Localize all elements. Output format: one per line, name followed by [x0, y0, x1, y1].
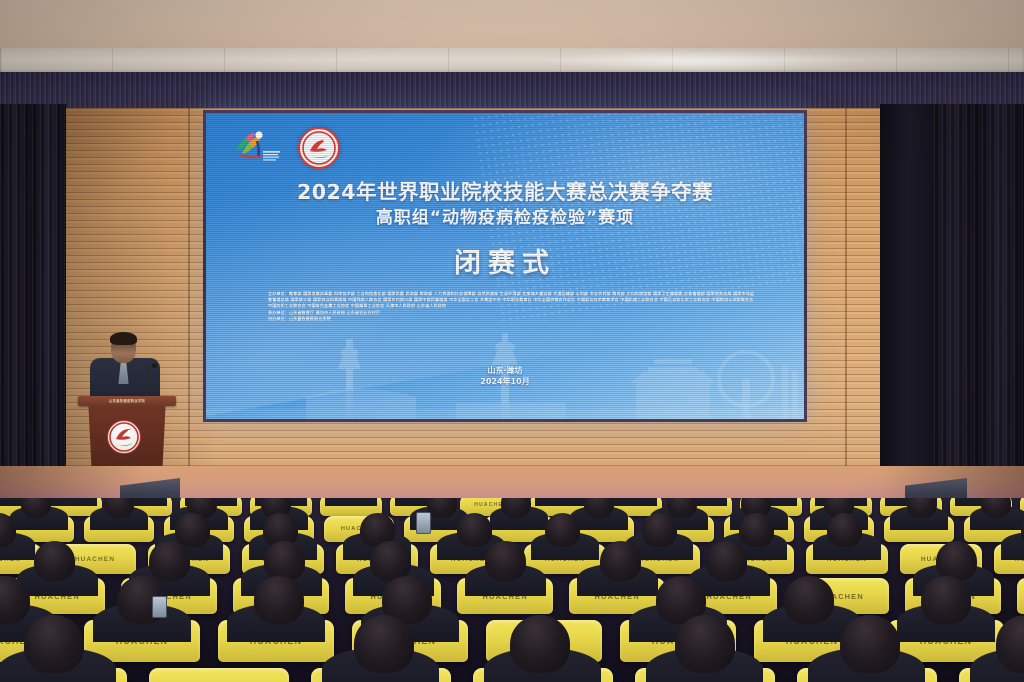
audience-member-shoulders [535, 498, 587, 506]
screen-headline: 2024年世界职业院校技能大赛总决赛争夺赛 [206, 175, 804, 205]
stage-curtain-right [934, 104, 1024, 504]
audience-member-head [600, 541, 641, 581]
audience-member-head [827, 513, 862, 547]
ceiling [0, 0, 1024, 52]
credits-supporters-label: 协办单位： [268, 316, 289, 321]
audience-member-head [642, 513, 677, 547]
credits-co-organizers-text: 山东省教育厅 潍坊市人民政府 山东省农业农村厅 [289, 310, 380, 315]
screen-credits-block: 主办单位：教育部 国家发展改革委 科学技术部 工业和信息化部 国家民委 民政部 … [268, 291, 756, 322]
audience-member-head [34, 541, 75, 581]
audience-member-head [264, 541, 305, 581]
audience-member-head [175, 513, 210, 547]
chair-brand-label: HUACHEN [75, 556, 115, 563]
audience-seating: HUACHENHUACHENHUACHENHUACHENHUACHENHUACH… [0, 498, 1024, 682]
stage-curtain-right-inner [880, 104, 938, 504]
audience-phone [416, 512, 431, 534]
audience-member-head [784, 576, 834, 624]
audience-member-head [739, 513, 774, 547]
audience-member-shoulders [45, 498, 97, 506]
animal-health-roundel-icon [298, 127, 340, 169]
lectern-nameplate: 山东畜牧兽医职业学院 [86, 398, 168, 404]
screen-subhead: 高职组“动物疫病检疫检验”赛项 [206, 203, 804, 228]
institution-roundel-icon [107, 420, 141, 454]
audience-member-head [921, 576, 971, 624]
ceiling-cornice [0, 48, 1024, 74]
credits-supporters-text: 山东畜牧兽医职业学院 [289, 316, 331, 321]
credits-organizers-label: 主办单位： [268, 291, 289, 296]
speaker-hair [110, 332, 137, 345]
audience-member-head [675, 615, 735, 673]
audience-member-head [24, 615, 84, 673]
credits-supporters: 协办单位：山东畜牧兽医职业学院 [268, 316, 756, 322]
audience-member-head [457, 513, 492, 547]
audience-member-shoulders [325, 498, 377, 506]
audience-member-head [149, 541, 190, 581]
credits-co-organizers-label: 承办单位： [268, 310, 289, 315]
microphone-head-icon [152, 363, 157, 368]
audience-chair: HUACHEN [149, 668, 289, 682]
wood-wall-seam [845, 108, 847, 470]
screen-event-name: 闭赛式 [206, 241, 804, 280]
ceiling-light-glare [540, 50, 870, 72]
audience-member-head [354, 615, 414, 673]
skills-competition-emblem-icon [230, 129, 284, 167]
credits-organizers-text: 教育部 国家发展改革委 科学技术部 工业和信息化部 国家民委 民政部 财政部 人… [268, 291, 754, 308]
auditorium-photo: 2024年世界职业院校技能大赛总决赛争夺赛 高职组“动物疫病检疫检验”赛项 闭赛… [0, 0, 1024, 682]
audience-member-head [254, 576, 304, 624]
wood-wall-seam [188, 108, 190, 470]
audience-member-head [545, 513, 580, 547]
audience-member-head [706, 541, 747, 581]
screen-date: 2024年10月 [206, 376, 804, 387]
screen-venue-block: 山东·潍坊 2024年10月 [206, 365, 804, 387]
audience-member-head [936, 541, 977, 581]
stage-curtain-left [0, 104, 66, 504]
led-screen: 2024年世界职业院校技能大赛总决赛争夺赛 高职组“动物疫病检疫检验”赛项 闭赛… [206, 113, 804, 419]
audience-chair: HUACHEN [1017, 578, 1024, 614]
credits-organizers: 主办单位：教育部 国家发展改革委 科学技术部 工业和信息化部 国家民委 民政部 … [268, 291, 756, 310]
screen-location: 山东·潍坊 [206, 365, 804, 376]
audience-phone [152, 596, 167, 618]
screen-logo-group [230, 127, 340, 169]
audience-member-head [485, 541, 526, 581]
audience-member-head [510, 615, 570, 673]
audience-member-head [840, 615, 900, 673]
